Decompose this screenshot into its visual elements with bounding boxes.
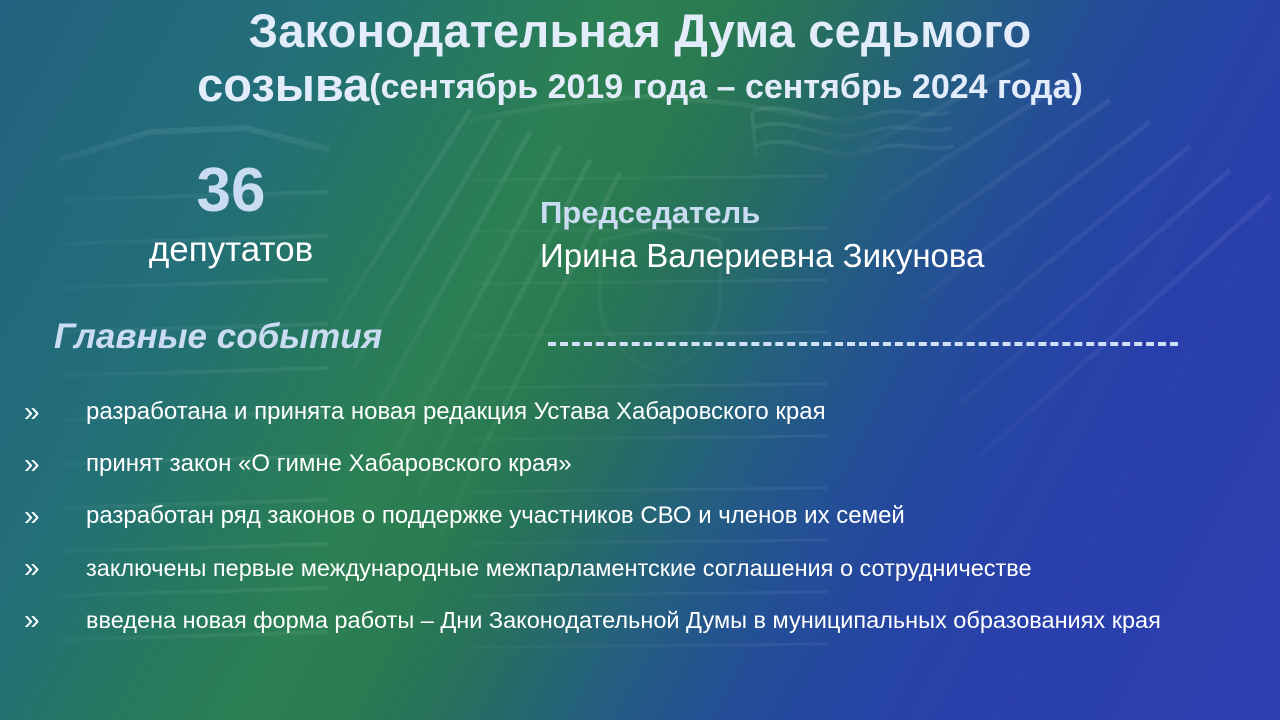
title-line-1: Законодательная Дума седьмого [0,6,1280,56]
events-list: » разработана и принята новая редакция У… [0,392,1280,652]
title-line-2: созыва(сентябрь 2019 года – сентябрь 202… [0,60,1280,110]
chevron-double-right-icon: » [24,392,70,432]
list-item: » введена новая форма работы – Дни Закон… [0,600,1280,640]
events-section-header: Главные события [0,316,1280,368]
list-item-text: разработана и принята новая редакция Уст… [70,392,1250,432]
title-word-sozyva: созыва [197,58,369,111]
deputies-label: депутатов [96,232,366,267]
chairperson-name: Ирина Валериевна Зикунова [540,238,984,274]
list-item-text: разработан ряд законов о поддержке участ… [70,496,1250,536]
list-item-text: введена новая форма работы – Дни Законод… [70,600,1250,640]
title-period-range: (сентябрь 2019 года – сентябрь 2024 года… [369,68,1083,106]
deputies-count: 36 [96,160,366,222]
list-item-text: заключены первые международные межпарлам… [70,548,1250,588]
chevron-double-right-icon: » [24,548,70,588]
chevron-double-right-icon: » [24,600,70,640]
chairperson-block: Председатель Ирина Валериевна Зикунова [540,195,984,274]
list-item: » разработан ряд законов о поддержке уча… [0,496,1280,536]
list-item: » разработана и принята новая редакция У… [0,392,1280,432]
dashed-divider [548,342,1178,346]
chevron-double-right-icon: » [24,444,70,484]
list-item: » принят закон «О гимне Хабаровского кра… [0,444,1280,484]
events-heading: Главные события [54,316,382,358]
slide-content: Законодательная Дума седьмого созыва(сен… [0,0,1280,720]
chevron-double-right-icon: » [24,496,70,536]
deputies-stat: 36 депутатов [96,160,366,267]
slide-title: Законодательная Дума седьмого созыва(сен… [0,6,1280,110]
chairperson-role: Председатель [540,195,984,231]
list-item: » заключены первые международные межпарл… [0,548,1280,588]
presentation-slide: Законодательная Дума седьмого созыва(сен… [0,0,1280,720]
list-item-text: принят закон «О гимне Хабаровского края» [70,444,1250,484]
